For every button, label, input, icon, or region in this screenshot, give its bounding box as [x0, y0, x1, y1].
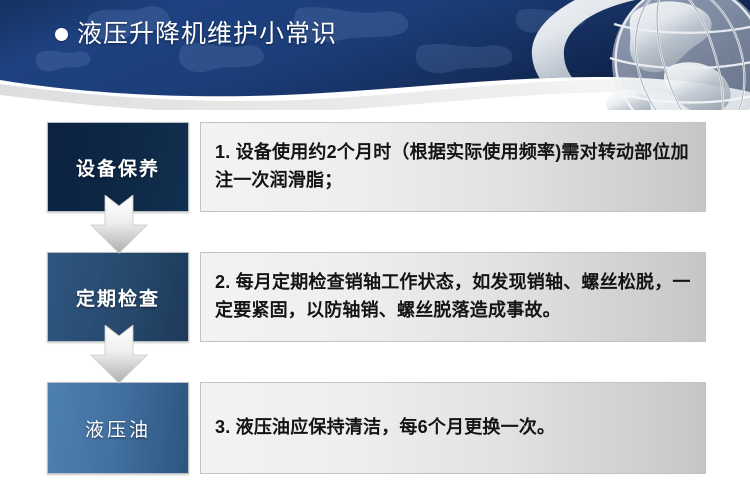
step-label-2: 定期检查 — [76, 284, 160, 311]
page-title-text: 液压升降机维护小常识 — [77, 22, 337, 47]
step-label-1: 设备保养 — [76, 154, 160, 181]
step-content-box-2: 2. 每月定期检查销轴工作状态，如发现销轴、螺丝松脱，一定要紧固，以防轴销、螺丝… — [200, 252, 706, 342]
step-label-box-3[interactable]: 液压油 — [47, 382, 189, 474]
header-banner: 液压升降机维护小常识 — [0, 0, 750, 110]
down-arrow-icon-1 — [88, 195, 150, 257]
page-title: 液压升降机维护小常识 — [55, 22, 337, 47]
step-text-1: 1. 设备使用约2个月时（根据实际使用频率)需对转动部位加注一次润滑脂； — [215, 139, 691, 195]
step-label-3: 液压油 — [85, 415, 151, 442]
banner-graphic — [0, 0, 750, 110]
step-content-box-3: 3. 液压油应保持清洁，每6个月更换一次。 — [200, 382, 706, 474]
filled-circle-bullet-icon — [55, 28, 68, 41]
step-text-3: 3. 液压油应保持清洁，每6个月更换一次。 — [215, 414, 555, 442]
step-content-box-1: 1. 设备使用约2个月时（根据实际使用频率)需对转动部位加注一次润滑脂； — [200, 122, 706, 212]
step-text-2: 2. 每月定期检查销轴工作状态，如发现销轴、螺丝松脱，一定要紧固，以防轴销、螺丝… — [215, 269, 691, 325]
down-arrow-icon-2 — [88, 325, 150, 387]
